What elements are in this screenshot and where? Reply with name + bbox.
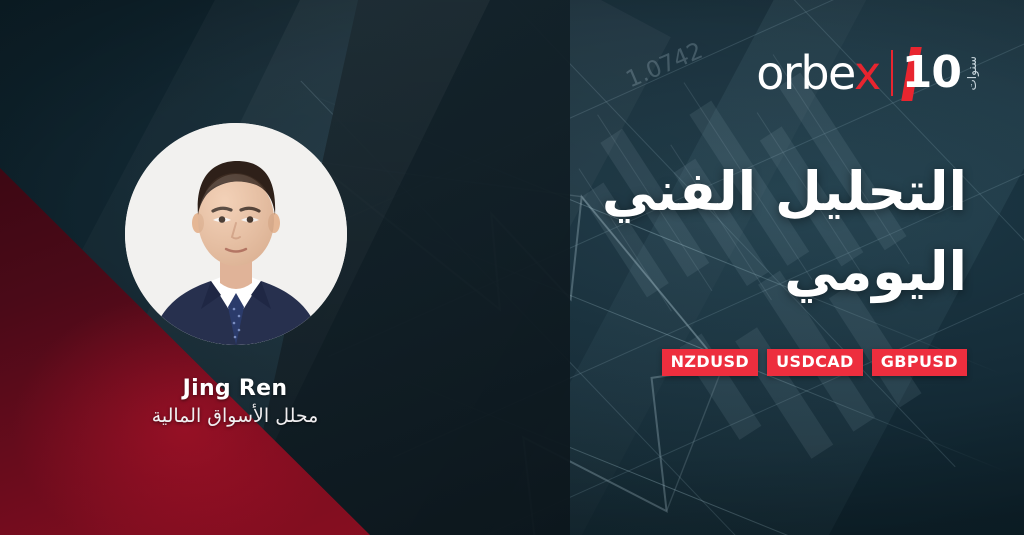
analyst-role: محلل الأسواق المالية	[60, 405, 410, 427]
headline-line-1: التحليل الفني	[602, 152, 967, 232]
status-badge[interactable]: NZDUSD	[662, 349, 758, 376]
status-badge[interactable]: GBPUSD	[872, 349, 967, 376]
headline-line-2: اليومي	[602, 232, 967, 312]
status-badge[interactable]: USDCAD	[767, 349, 863, 376]
logo-divider	[891, 50, 893, 96]
logo-wordmark-accent: x	[854, 46, 880, 100]
anniversary-number: 10	[902, 47, 961, 98]
avatar	[125, 123, 347, 345]
anniversary-years-label: سنوات	[965, 56, 979, 91]
analyst-name: Jing Ren	[60, 376, 410, 401]
logo-wordmark-text: orbe	[756, 46, 854, 100]
page-title: التحليل الفني اليومي	[602, 152, 967, 312]
logo-wordmark: orbex	[756, 50, 879, 96]
orbex-logo[interactable]: orbex 10 سنوات	[756, 44, 979, 102]
promo-banner: 1.0742	[0, 0, 1024, 535]
anniversary-mark: 10	[902, 51, 961, 95]
currency-pairs-list: NZDUSD USDCAD GBPUSD	[662, 349, 967, 376]
portrait-illustration	[125, 123, 347, 345]
